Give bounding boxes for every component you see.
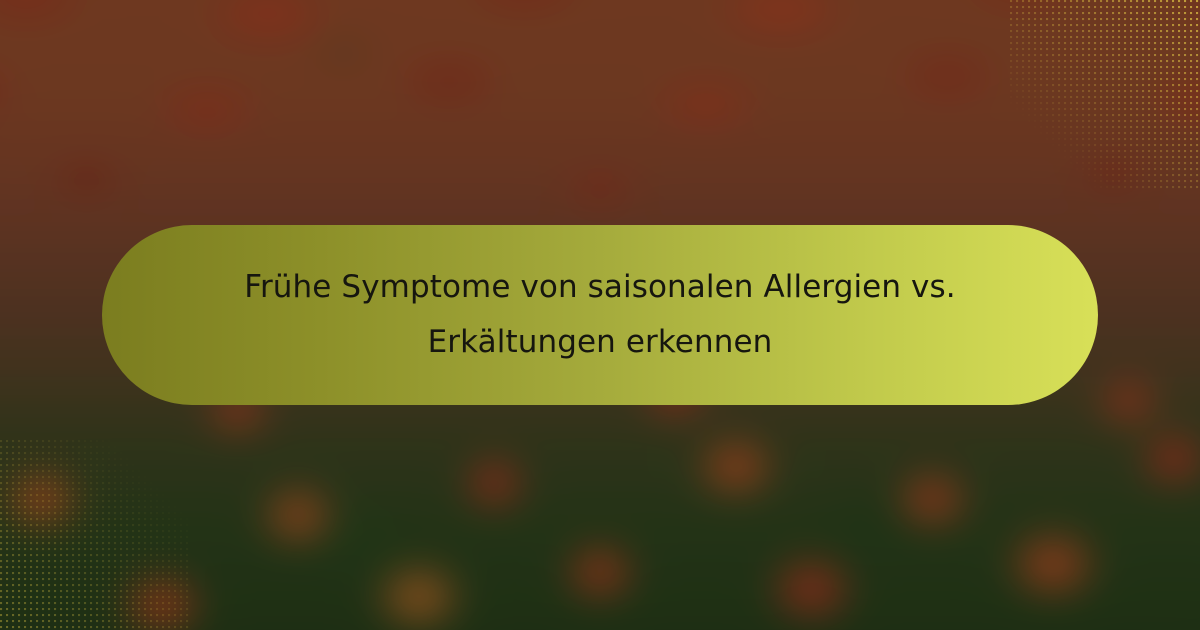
headline-pill: Frühe Symptome von saisonalen Allergien … xyxy=(102,225,1098,405)
social-banner: Frühe Symptome von saisonalen Allergien … xyxy=(0,0,1200,630)
page-title: Frühe Symptome von saisonalen Allergien … xyxy=(172,260,1028,370)
